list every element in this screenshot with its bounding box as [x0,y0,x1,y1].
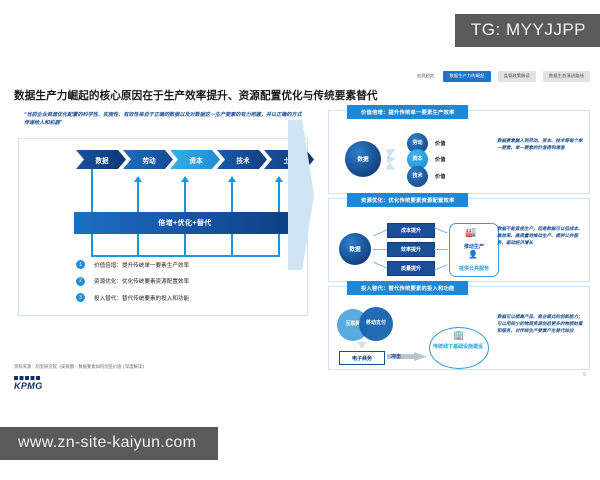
panel-note: 数据可以提高产品、商业模式的创新能力；可以用较少的物质资源创造更多的物质财富和服… [497,313,583,335]
lower-rail [91,255,280,257]
panel-note: 数据不能直接生产，但是数据可以低成本、高效率、高质量地推动生产、提供公共服务，驱… [497,225,583,247]
outcome-label-public-service: 提供公共服务 [450,265,498,272]
list-item-label: 价值倍增：提升传统单一要素生产效率 [94,261,189,269]
panel-header: 资源优化：优化传统要素资源配置效率 [347,193,468,207]
step-box-efficiency[interactable]: 效率提升 [387,242,435,257]
kpmg-wordmark: KPMG [14,381,43,391]
building-icon: 🏢 [453,331,464,340]
target-node-label: 资本 [412,157,422,162]
connector-line-land [278,182,280,214]
tab-data-ecosystem-roadmap[interactable]: 数据生态演进路线 [543,71,590,82]
step-label: 质量提升 [401,265,421,272]
value-label-technology: 价值 [435,173,445,180]
target-node-label: 劳动 [412,141,422,146]
ecommerce-label: 电子商务 [352,355,372,362]
center-effect-bar: 倍增+优化+替代 [74,212,296,234]
impact-label: 冲击 [391,353,401,360]
link-line [434,264,447,270]
slide-canvas: 宏观趋势 数据生产力的崛起 监管政策解读 数据生态演进路线 数据生产力崛起的核心… [0,66,600,396]
panel-value-multiplication: 价值倍增：提升传统单一要素生产效率 数据 劳动 资本 技术 价值 价值 价值 数… [328,110,590,194]
outcome-group: 🏭 推动生产 👤 提供公共服务 [449,223,499,277]
step-label: 成本提升 [401,227,421,234]
list-item-badge: 2 [76,277,85,286]
factor-label: 资本 [189,155,202,165]
page-title: 数据生产力崛起的核心原因在于生产效率提升、资源配置优化与传统要素替代 [14,88,378,103]
list-item[interactable]: 3 投入替代：替代传统要素的投入和功能 [76,293,189,302]
panel-header: 价值倍增：提升传统单一要素生产效率 [347,105,468,119]
factor-chevron-capital[interactable]: 资本 [170,150,220,169]
tab-data-productivity[interactable]: 数据生产力的崛起 [443,71,490,82]
panel-note: 数据要素融入到劳动、资本、技术等每个单一要素，单一要素的价值得到增值 [497,137,583,151]
production-factors-chevron-row: 数据 劳动 资本 技术 土地 [76,150,311,169]
core-node-label: 数据 [349,245,360,253]
lower-line-1 [91,234,93,256]
venn-label: 移动支付 [366,321,386,327]
connector-line-data [91,169,93,214]
list-item-label: 投入替代：替代传统要素的投入和功能 [94,294,189,302]
core-node-label: 数据 [357,155,368,163]
factor-label: 劳动 [142,155,155,165]
lower-line-3 [184,234,186,256]
panel-resource-optimization: 资源优化：优化传统要素资源配置效率 数据 成本提升 效率提升 质量提升 🏭 推动… [328,198,590,282]
right-panels-column: 价值倍增：提升传统单一要素生产效率 数据 劳动 资本 技术 价值 价值 价值 数… [328,110,590,374]
value-label-labor: 价值 [435,140,445,147]
flow-arrow-right-icon [288,120,314,270]
person-icon: 👤 [468,251,478,259]
step-box-cost[interactable]: 成本提升 [387,223,435,238]
key-reasons-list: 1 价值倍增：提升传统单一要素生产效率 2 资源优化：优化传统要素资源配置效率 … [76,260,189,310]
fan-arrow-icon [386,162,398,173]
pull-quote: “当前企业资源优化配置的科学性、实施性、有效性来自于正确的数据以及对数据这一生产… [24,112,306,128]
page-number: 5 [583,372,586,378]
step-box-quality[interactable]: 质量提升 [387,261,435,276]
connector-line-technology [231,182,233,214]
factor-label: 数据 [95,155,108,165]
list-item[interactable]: 2 资源优化：优化传统要素资源配置效率 [76,277,189,286]
link-line [434,249,448,250]
outcome-label-production: 推动生产 [450,243,498,250]
telegram-watermark-badge: TG: MYYJJPP [455,14,600,47]
connector-line-capital [184,182,186,214]
step-label: 效率提升 [401,246,421,253]
list-item-badge: 3 [76,293,85,302]
venn-circle-mobile-payment[interactable]: 移动支付 [359,307,393,341]
lower-line-5 [278,234,280,256]
link-line [434,227,447,233]
factor-chevron-data[interactable]: 数据 [76,150,126,169]
list-item-badge: 1 [76,260,85,269]
connector-arrow-land [275,176,283,182]
factor-chevron-technology[interactable]: 技术 [217,150,267,169]
source-citation: 资料来源：阿里研究院《安筱鹏：数据要素如何创造价值 | 深度解读》 [14,364,146,370]
list-item-label: 资源优化：优化传统要素资源配置效率 [94,277,189,285]
lower-line-2 [137,234,139,256]
center-effect-label: 倍增+优化+替代 [158,218,211,228]
site-watermark: www.zn-site-kaiyun.com [0,427,218,460]
target-label: 传统线下基础设施建设 [429,344,487,350]
kpmg-logo-bars-icon [14,376,40,380]
factor-chevron-labor[interactable]: 劳动 [123,150,173,169]
section-tabbar: 宏观趋势 数据生产力的崛起 监管政策解读 数据生态演进路线 [417,71,590,82]
tab-policy-interpretation[interactable]: 监管政策解读 [498,71,536,82]
tab-macro-trends[interactable]: 宏观趋势 [417,71,437,82]
factory-icon: 🏭 [465,228,476,237]
connector-arrow-technology [228,176,236,182]
core-node-data[interactable]: 数据 [339,233,371,265]
connector-arrow-capital [181,176,189,182]
list-item[interactable]: 1 价值倍增：提升传统单一要素生产效率 [76,260,189,269]
connector-arrow-labor [134,176,142,182]
ecommerce-tag[interactable]: 电子商务 [339,351,385,365]
factor-label: 技术 [236,155,249,165]
lower-line-4 [231,234,233,256]
kpmg-logo: KPMG [14,376,43,391]
panel-header: 投入替代：替代传统要素的投入和功能 [347,281,468,295]
core-node-data[interactable]: 数据 [345,141,381,177]
down-arrow-icon [357,342,367,349]
value-label-capital: 价值 [435,156,445,163]
left-diagram-column: “当前企业资源优化配置的科学性、实施性、有效性来自于正确的数据以及对数据这一生产… [18,112,310,348]
connector-line-labor [137,182,139,214]
panel-input-substitution: 投入替代：替代传统要素的投入和功能 互联网 移动支付 电子商务 冲击 🏢 传统线… [328,286,590,370]
target-node-technology[interactable]: 技术 [407,166,428,187]
target-node-label: 技术 [412,174,422,179]
